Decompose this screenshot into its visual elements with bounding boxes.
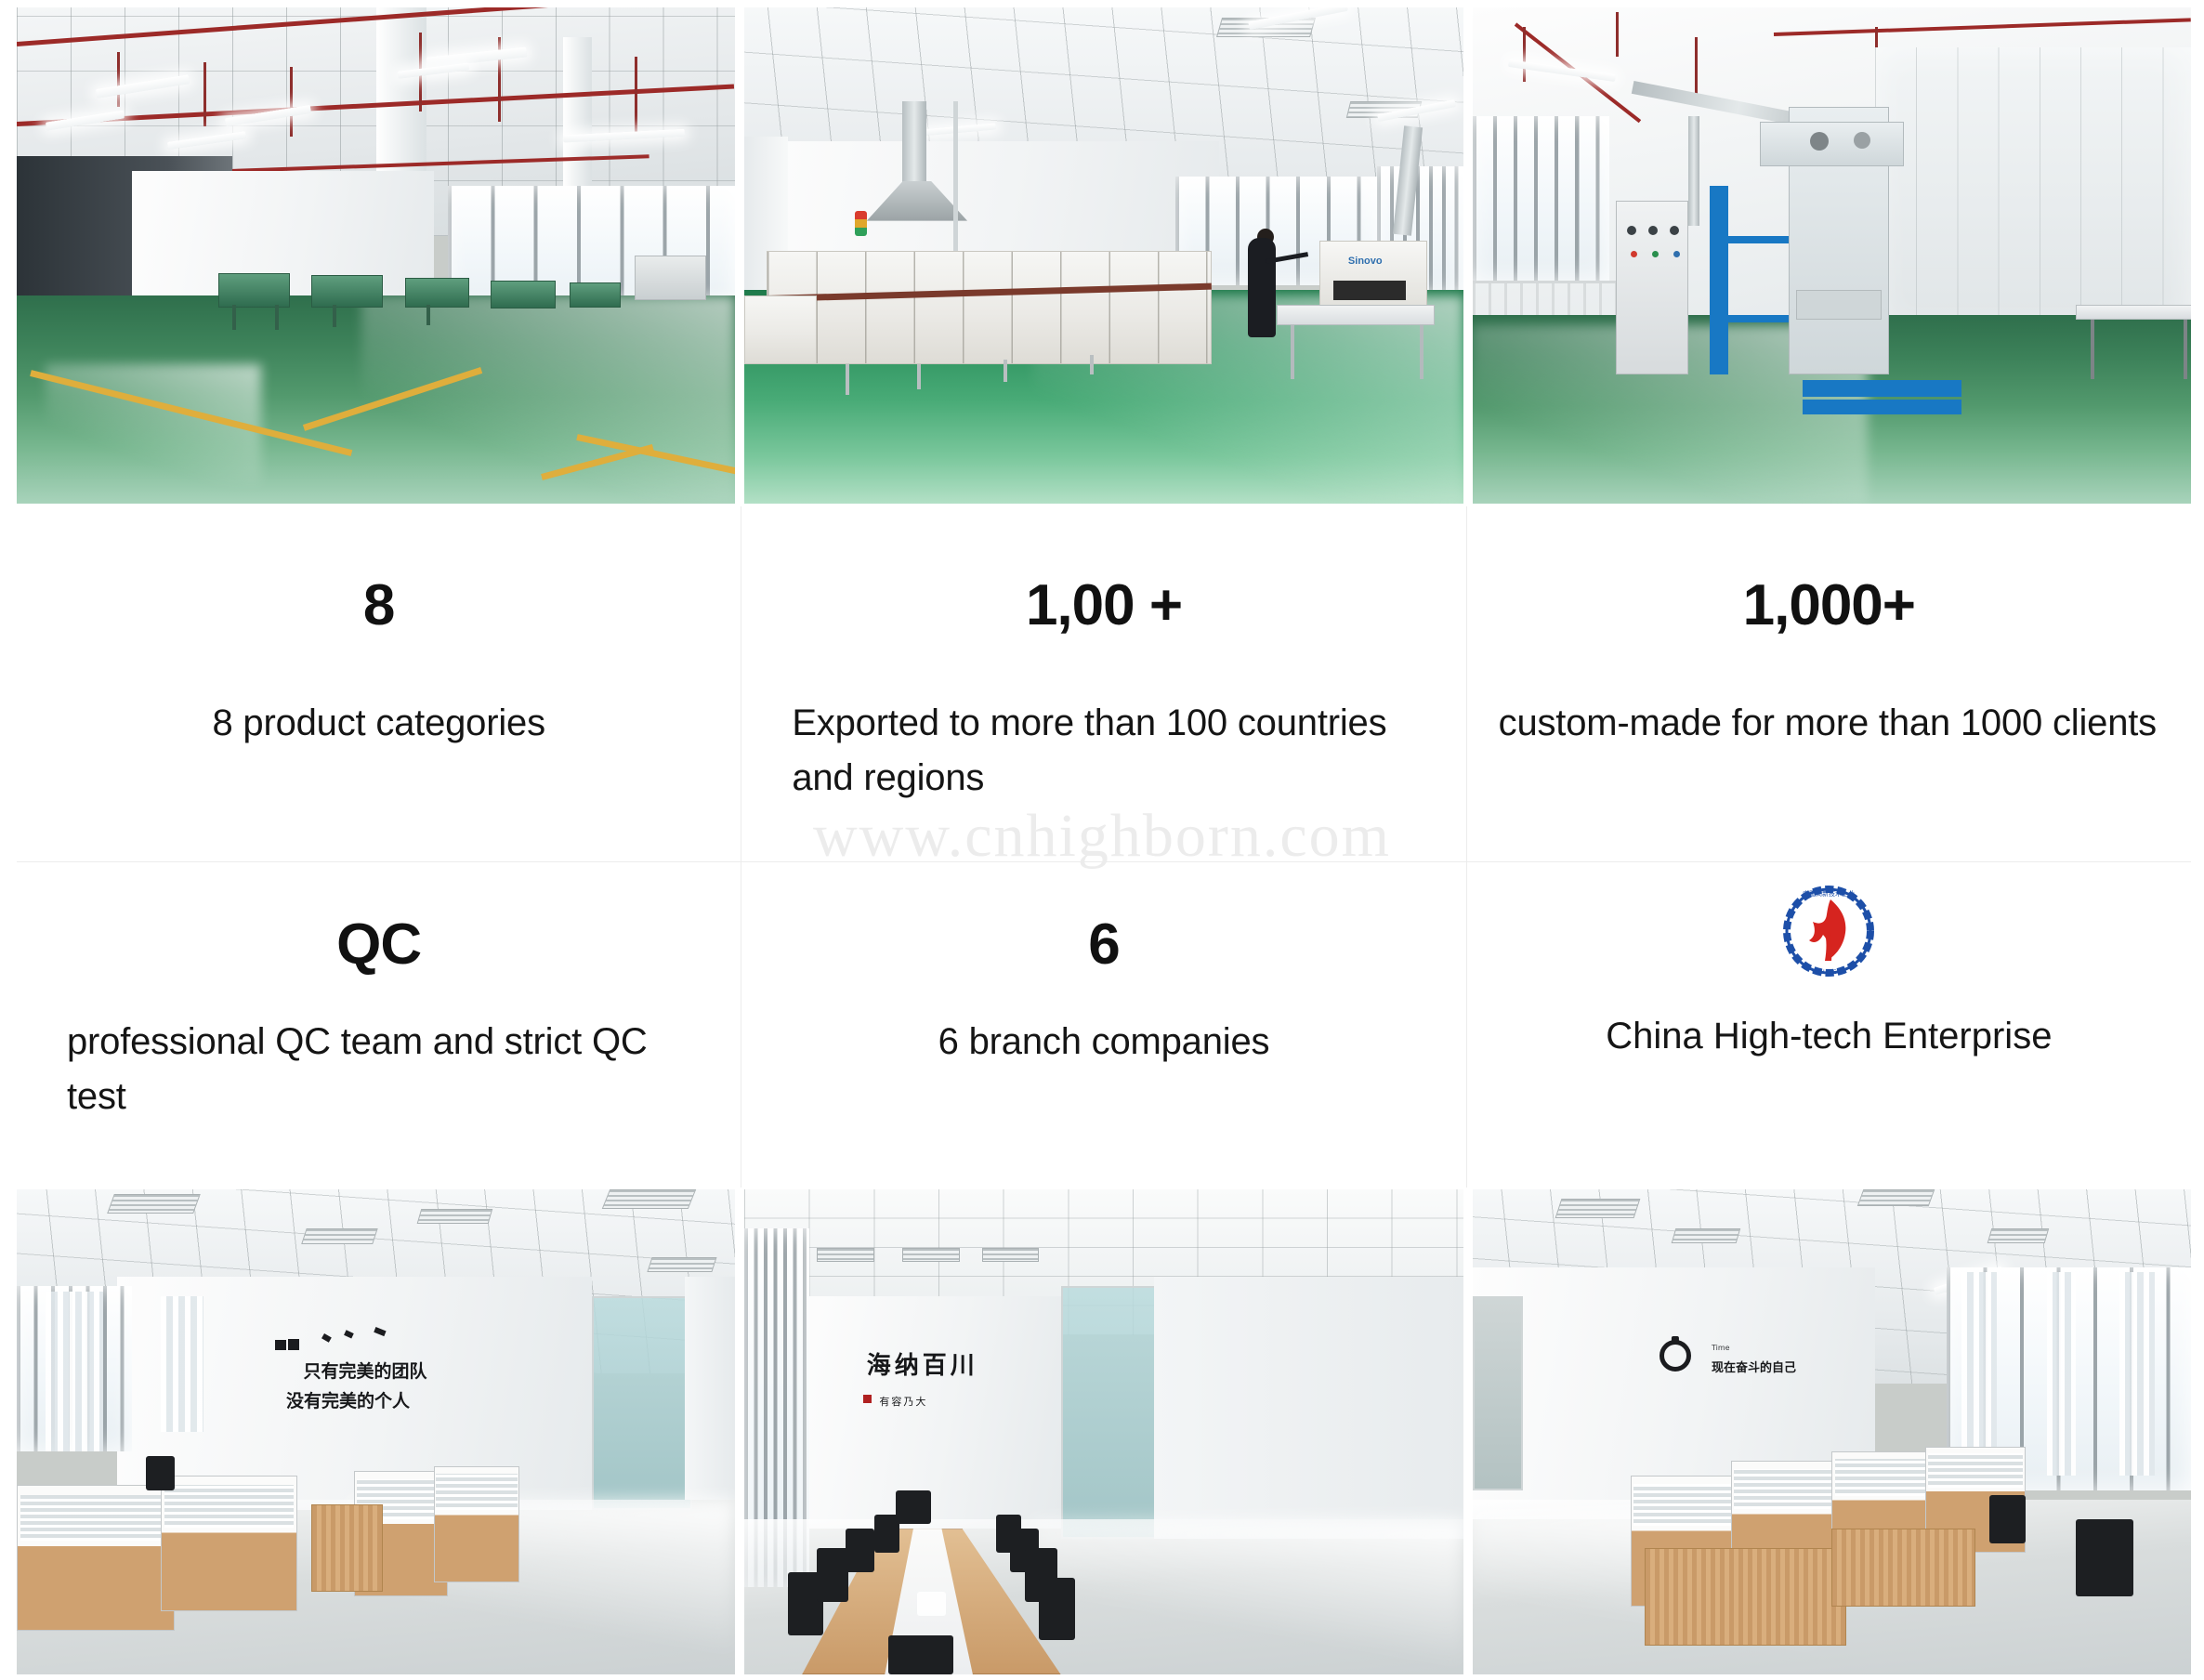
wall-calligraphy-line-2: 有容乃大 [879, 1397, 927, 1407]
stats-row-2: QC professional QC team and strict QC te… [17, 861, 2191, 1188]
stat-cell-custom-made-clients: 1,000+ custom-made for more than 1000 cl… [1466, 506, 2191, 861]
photo-meeting-room[interactable]: 海纳百川 有容乃大 [744, 1189, 1463, 1674]
stat-label: Exported to more than 100 countries and … [773, 696, 1434, 806]
stat-cell-product-categories: 8 8 product categories [17, 506, 741, 861]
content-grid: Sinovo [17, 7, 2191, 1674]
page-root: www.cnhighborn.com [0, 0, 2204, 1680]
stats-row-1: 8 8 product categories 1,00 + Exported t… [17, 506, 2191, 861]
stat-cell-export-countries: 1,00 + Exported to more than 100 countri… [741, 506, 1465, 861]
photo-vulcanizing-press-station[interactable] [1473, 7, 2191, 504]
stopwatch-icon [1660, 1340, 1691, 1372]
stat-label: professional QC team and strict QC test [48, 1015, 709, 1124]
photo-row-top: Sinovo [17, 7, 2191, 504]
stat-number: 1,00 + [1026, 577, 1182, 635]
stat-number: 6 [1088, 916, 1119, 974]
stat-number: QC [336, 916, 421, 974]
stat-cell-branch-companies: 6 6 branch companies [741, 862, 1465, 1188]
stats-band: 8 8 product categories 1,00 + Exported t… [17, 506, 2191, 1188]
wall-slogan-small: Time [1712, 1345, 1730, 1352]
photo-open-plan-office-reception[interactable]: 只有完美的团队 没有完美的个人 [17, 1189, 735, 1674]
svg-text:中国高新技术企业: 中国高新技术企业 [1803, 889, 1855, 898]
stat-label: 6 branch companies [938, 1015, 1270, 1070]
stat-cell-china-high-tech-enterprise: 中国高新技术企业 HIGH-TECH China High-tech Enter… [1466, 862, 2191, 1188]
stat-label: China High-tech Enterprise [1606, 1016, 2052, 1057]
wall-slogan-line-2: 没有完美的个人 [286, 1393, 410, 1411]
stat-cell-qc-team: QC professional QC team and strict QC te… [17, 862, 741, 1188]
photo-reflow-oven-production-line[interactable]: Sinovo [744, 7, 1463, 504]
stat-label: custom-made for more than 1000 clients [1499, 696, 2159, 751]
wall-slogan-line-1: 现在奋斗的自己 [1712, 1362, 1796, 1374]
photo-row-bottom: 只有完美的团队 没有完美的个人 [17, 1189, 2191, 1674]
stat-label: 8 product categories [212, 696, 544, 751]
photo-sales-office-workstations[interactable]: Time 现在奋斗的自己 [1473, 1189, 2191, 1674]
wall-slogan-line-1: 只有完美的团队 [304, 1363, 427, 1381]
stat-number: 1,000+ [1743, 577, 1915, 635]
svg-text:HIGH-TECH: HIGH-TECH [1812, 968, 1845, 976]
china-high-tech-enterprise-logo-icon: 中国高新技术企业 HIGH-TECH [1773, 875, 1884, 991]
stat-number: 8 [363, 577, 394, 635]
wall-calligraphy-line-1: 海纳百川 [867, 1354, 978, 1378]
photo-factory-workshop-production-hall[interactable] [17, 7, 735, 504]
